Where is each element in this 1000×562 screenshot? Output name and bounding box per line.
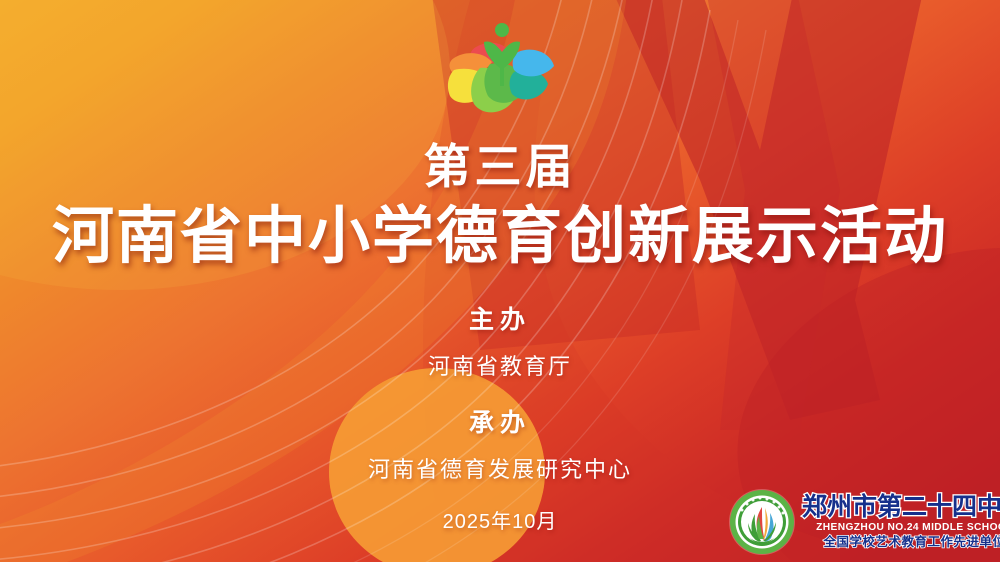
- school-emblem-icon: [728, 488, 796, 556]
- school-name-en: ZHENGZHOU NO.24 MIDDLE SCHOOL: [802, 523, 1000, 533]
- school-text-block: 郑州市第二十四中学 ZHENGZHOU NO.24 MIDDLE SCHOOL …: [802, 495, 1000, 549]
- organizer-block: 主办 河南省教育厅 承办 河南省德育发展研究中心: [0, 300, 1000, 484]
- organizer-role-label: 承办: [0, 403, 1000, 439]
- school-logo: 郑州市第二十四中学 ZHENGZHOU NO.24 MIDDLE SCHOOL …: [728, 487, 990, 557]
- host-name-label: 河南省教育厅: [0, 349, 1000, 381]
- school-name-cn: 郑州市第二十四中学: [802, 495, 1000, 520]
- page-title: 河南省中小学德育创新展示活动: [0, 185, 1000, 275]
- school-honor-label: 全国学校艺术教育工作先进单位: [802, 536, 1000, 549]
- slide-content: 第三届 河南省中小学德育创新展示活动 主办 河南省教育厅 承办 河南省德育发展研…: [0, 0, 1000, 562]
- presentation-slide: 第三届 河南省中小学德育创新展示活动 主办 河南省教育厅 承办 河南省德育发展研…: [0, 0, 1000, 562]
- host-role-label: 主办: [0, 300, 1000, 336]
- organizer-name-label: 河南省德育发展研究中心: [0, 452, 1000, 484]
